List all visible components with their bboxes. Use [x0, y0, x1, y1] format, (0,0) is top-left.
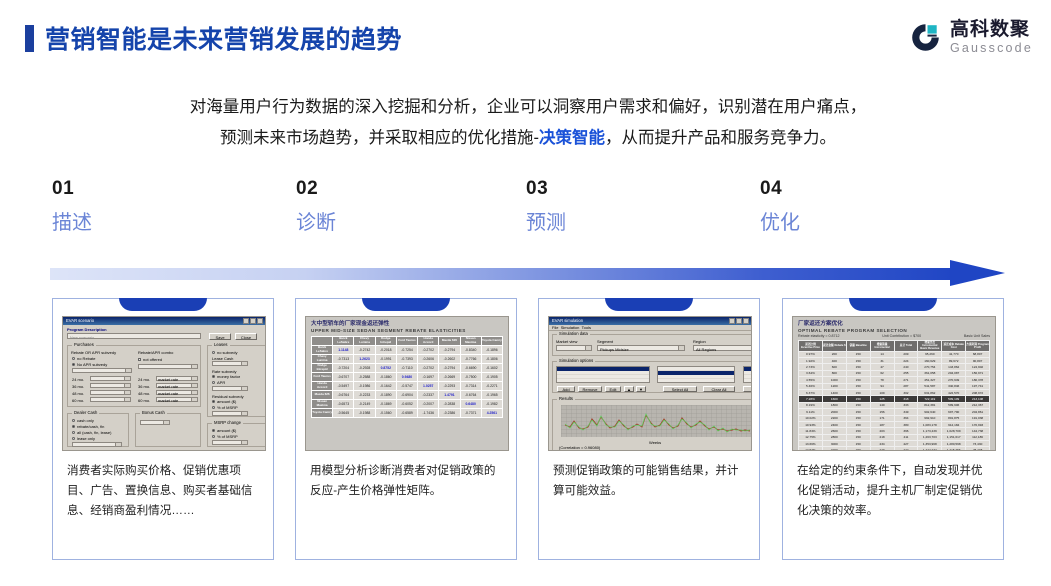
cell: -0.7393 — [396, 355, 417, 364]
graph-button[interactable]: Graph — [743, 386, 752, 392]
column-header: 销量 Baseline — [846, 341, 870, 352]
column-header: Honda Accord — [418, 337, 439, 346]
radio-rebate-cash-fin[interactable] — [72, 425, 75, 428]
label-lease-only: lease only — [77, 436, 95, 441]
cell: -0.6707 — [333, 373, 354, 382]
edit-button[interactable]: Edit — [605, 386, 621, 392]
paragraph-line-2: 预测未来市场趋势，并采取相应的优化措施-决策智能，从而提升产品和服务竞争力。 — [52, 123, 1004, 154]
cell: -0.1890 — [375, 391, 396, 400]
cell: -0.2702 — [418, 364, 439, 373]
label-money-factor: money factor — [217, 374, 240, 379]
window-body: Simulation data Market view Segment Regi… — [549, 331, 751, 450]
paragraph-line-1: 对海量用户行为数据的深入挖掘和分析，企业可以洞察用户需求和偏好，识别潜在用户痛点… — [52, 92, 1004, 123]
menu-item-file[interactable]: File — [552, 325, 558, 330]
cell: -0.6690 — [460, 364, 481, 373]
cell: -0.6764 — [460, 391, 481, 400]
cell: -0.7204 — [333, 364, 354, 373]
cell: 0.9480 — [396, 373, 417, 382]
step-number: 01 — [52, 178, 92, 200]
list-item[interactable] — [658, 379, 734, 383]
label-cash-only: cash only — [77, 418, 94, 423]
cell: -0.1869 — [375, 400, 396, 409]
row-header: Chevy Lumina — [312, 355, 333, 364]
group-label-results: Results — [557, 396, 575, 401]
step-item-1: 01 描述 — [52, 178, 92, 237]
group-label-msrp-change: MSRP change — [212, 420, 243, 425]
table-row: Toyota Camry -0.5645 -0.1988 -0.1560 -0.… — [312, 409, 503, 418]
cell: -0.2702 — [418, 346, 439, 355]
segment-value: Pickups Midsize — [600, 347, 629, 352]
cell: -0.1602 — [481, 364, 502, 373]
select-all-button[interactable]: Select All — [663, 386, 697, 392]
cell: -0.2233 — [354, 391, 375, 400]
dealer-cash-combo[interactable] — [72, 442, 122, 447]
meta-rebate-elasticity: Rebate elasticity = 0.8712 — [798, 334, 839, 339]
group-simulation-data: Simulation data Market view Segment Regi… — [552, 334, 752, 356]
list-item[interactable] — [557, 379, 649, 383]
card-caption: 预测促销政策的可能销售结果，并计算可能效益。 — [553, 461, 747, 501]
paragraph-highlight: 决策智能 — [539, 129, 605, 147]
column-header: 总计 Total — [894, 341, 918, 352]
cell: 1,444,232 — [918, 447, 942, 451]
term-combo-36[interactable] — [90, 383, 131, 388]
term-label-60b: 60 mo. — [138, 398, 150, 403]
window-buttons — [243, 317, 263, 325]
elasticity-matrix: Buick LeSabre Chevy Lumina Dodge Intrepi… — [311, 336, 503, 418]
simulation-line-chart — [561, 405, 752, 437]
cell: -0.7314 — [460, 382, 481, 391]
rate-combo-36[interactable]: market rate — [156, 383, 198, 388]
cell: -0.1991 — [375, 355, 396, 364]
matrix-title-en: UPPER MID-SIZE SEDAN SEGMENT REBATE ELAS… — [311, 328, 503, 334]
term-label-48b: 48 mo. — [138, 391, 150, 396]
group-label-leases: Leases — [212, 342, 230, 347]
row-header: Toyota Camry — [312, 409, 333, 418]
cell: -0.1965 — [481, 391, 502, 400]
label-no-apr-subvedy: No APR subvedy — [77, 362, 107, 367]
group-bonus-cash: Bonus Cash — [135, 413, 201, 447]
card-diagnose[interactable]: 大中型轿车的厂家现金返还弹性 UPPER MID-SIZE SEDAN SEGM… — [295, 298, 517, 560]
rate-combo-48[interactable]: market rate — [156, 390, 198, 395]
table-row: Dodge Intrepid -0.7204 -0.2928 0.8752 -0… — [312, 364, 503, 373]
term-label-36: 36 mo. — [72, 384, 84, 389]
cell: -0.7766 — [460, 355, 481, 364]
cell: -0.2293 — [439, 382, 460, 391]
label-rebate-apr-subv: Rebate OR APR subvedy — [71, 350, 116, 355]
cell: -0.7313 — [333, 355, 354, 364]
cell: -0.1986 — [354, 382, 375, 391]
cell: -0.8340 — [460, 346, 481, 355]
logo-text-cn: 高科数聚 — [950, 20, 1033, 39]
meta-basic-unit-sales: Basic Unit Sales — [964, 334, 990, 339]
meta-unit-contribution: Unit Contribution = $700 — [882, 334, 921, 339]
group-label-dealer-cash: Dealer Cash — [72, 410, 99, 415]
term-label-48: 48 mo. — [72, 391, 84, 396]
cell: -0.2928 — [354, 364, 375, 373]
residual-subvedy-combo[interactable] — [212, 411, 248, 416]
column-header: Ford Taurus — [396, 337, 417, 346]
close-button[interactable]: Close — [235, 333, 257, 340]
rate-value-24: market rate — [158, 377, 178, 382]
cell: -0.2794 — [439, 364, 460, 373]
card-tab — [849, 298, 937, 311]
table-row: Buick LeSabre 1.1148 -0.2742 -0.2018 -0.… — [312, 346, 503, 355]
table-header-row: 返还比例 Incentive Price 返还金额 Rebate $ 销量 Ba… — [799, 341, 990, 352]
cell: -0.2602 — [439, 355, 460, 364]
step-label: 诊断 — [296, 209, 336, 237]
cell: -0.6589 — [396, 409, 417, 418]
label-not-offered: not offered — [143, 357, 162, 362]
cell: -0.6904 — [396, 391, 417, 400]
column-header: 增量销量 Incremental — [870, 341, 894, 352]
cell: -0.2007 — [418, 400, 439, 409]
card-caption: 在给定的约束条件下，自动发现并优化促销活动，提升主机厂制定促销优化决策的效率。 — [797, 461, 991, 521]
cell: -0.2588 — [354, 373, 375, 382]
lease-cash-combo[interactable] — [212, 361, 248, 366]
cell: 1.2623 — [354, 355, 375, 364]
card-optimize[interactable]: 厂家返还方案优化 OPTIMAL REBATE PROGRAM SELECTIO… — [782, 298, 1004, 560]
checkbox-not-offered[interactable] — [138, 358, 141, 361]
label-rebate-apr-combo: Rebate/APR combo — [138, 350, 173, 355]
term-combo-24[interactable] — [90, 376, 131, 381]
card-tab — [362, 298, 450, 311]
column-header: 增量支出 Incremental Basic Revenue — [918, 341, 942, 352]
cell: 0.6480 — [460, 400, 481, 409]
group-label-bonus-cash: Bonus Cash — [140, 410, 167, 415]
group-leases: Leases no subvedy Lease Cash Rate subved… — [207, 345, 266, 417]
purchase-value-combo[interactable] — [72, 368, 132, 373]
cell: -1.7436 — [418, 409, 439, 418]
card-screenshot-matrix-table: 大中型轿车的厂家现金返还弹性 UPPER MID-SIZE SEDAN SEGM… — [305, 316, 509, 451]
region-value: All Regions — [696, 347, 716, 352]
remove-button[interactable]: Remove — [578, 386, 602, 392]
term-combo-48[interactable] — [90, 390, 131, 395]
combo-value[interactable] — [138, 364, 198, 369]
table-header-row: Buick LeSabre Chevy Lumina Dodge Intrepi… — [312, 337, 503, 346]
column-header: Buick LeSabre — [333, 337, 354, 346]
cell: -0.2838 — [439, 400, 460, 409]
page-title: 营销智能是未来营销发展的趋势 — [25, 20, 402, 56]
cell: -0.2271 — [481, 382, 502, 391]
rate-value-36: market rate — [158, 384, 178, 389]
slide-root: 营销智能是未来营销发展的趋势 高科数聚 Gausscode 对海量用户行为数据的… — [0, 0, 1051, 586]
cell: -0.1560 — [375, 409, 396, 418]
label-no-subvedy: no subvedy — [217, 350, 237, 355]
progression-arrow-icon — [50, 262, 1005, 288]
cell: -0.2669 — [439, 373, 460, 382]
matrix-title-cn: 大中型轿车的厂家现金返还弹性 — [311, 321, 503, 328]
step-item-2: 02 诊断 — [296, 178, 336, 237]
group-dealer-cash: Dealer Cash cash only rebate/cash, fin a… — [67, 413, 129, 447]
rate-value-48: market rate — [158, 391, 178, 396]
label-no-rebate: no Rebate — [77, 356, 95, 361]
card-list: EVAR scenario Program Description New sc… — [52, 298, 1004, 560]
column-header: Toyota Camry — [481, 337, 502, 346]
radio-msrp-amount[interactable] — [212, 429, 215, 432]
cell: 1.1148 — [333, 346, 354, 355]
group-purchases: Purchases Rebate OR APR subvedy Rebate/A… — [67, 345, 201, 407]
rate-combo-60[interactable]: market rate — [156, 397, 198, 402]
label-region: Region — [693, 339, 706, 344]
cell: -0.2742 — [354, 346, 375, 355]
move-down-button[interactable]: ▼ — [636, 386, 646, 392]
term-label-24: 24 mo. — [72, 377, 84, 382]
radio-lease-only[interactable] — [72, 437, 75, 440]
cell: -0.6573 — [333, 400, 354, 409]
title-marker — [25, 25, 34, 52]
bonus-cash-combo[interactable] — [140, 420, 170, 425]
menu-item-simulation[interactable]: Simulation — [561, 325, 580, 330]
radio-msrp-pct[interactable] — [212, 435, 215, 438]
radio-no-apr-subvedy[interactable] — [72, 363, 75, 366]
gausscode-logo-icon — [909, 21, 942, 54]
cell: -0.5497 — [333, 382, 354, 391]
program-description-input[interactable]: New scenario — [67, 333, 201, 339]
cell: 1,415,756 — [942, 447, 966, 451]
rate-combo-24[interactable]: market rate — [156, 376, 198, 381]
radio-no-rebate[interactable] — [72, 357, 75, 360]
cell: -0.1896 — [481, 346, 502, 355]
radio-no-subvedy[interactable] — [212, 351, 215, 354]
step-label: 优化 — [760, 209, 800, 237]
radio-cash-only[interactable] — [72, 419, 75, 422]
brand-logo: 高科数聚 Gausscode — [909, 20, 1033, 55]
label-segment: Segment — [597, 339, 613, 344]
label-msrp-amount: amount ($) — [217, 428, 236, 433]
optimal-table-panel: 厂家返还方案优化 OPTIMAL REBATE PROGRAM SELECTIO… — [793, 317, 995, 450]
cell: -0.1982 — [481, 400, 502, 409]
card-caption: 消费者实际购买价格、促销优惠项目、广告、置换信息、购买者基础信息、经销商盈利情况… — [67, 461, 261, 521]
cell: -0.2386 — [439, 409, 460, 418]
cell: -0.1642 — [375, 382, 396, 391]
label-all-cash-fin-lease: all (cash, fin, lease) — [77, 430, 111, 435]
cell: 442 — [894, 447, 918, 451]
term-label-60: 60 mo. — [72, 398, 84, 403]
label-amount: amount ($) — [217, 399, 236, 404]
save-button[interactable]: Save — [209, 333, 231, 340]
cell: -0.1860 — [375, 373, 396, 382]
cell: 249 — [870, 447, 894, 451]
cell: -0.7371 — [460, 409, 481, 418]
step-item-3: 03 预测 — [526, 178, 566, 237]
window-body: Program Description New scenario Save Cl… — [63, 325, 265, 450]
card-tab — [119, 298, 207, 311]
cell: -0.2606 — [418, 355, 439, 364]
column-header: 返还比例 Incentive Price — [799, 341, 823, 352]
term-label-36b: 36 mo. — [138, 384, 150, 389]
cell: 1.0257 — [418, 382, 439, 391]
cell: 0.8752 — [375, 364, 396, 373]
correlation-text: (Correlation = 0.96080) — [559, 445, 600, 450]
cell: 14.57% — [799, 447, 823, 451]
corner-cell — [312, 337, 333, 346]
column-header: Nissan Maxima — [460, 337, 481, 346]
title-text: 营销智能是未来营销发展的趋势 — [45, 20, 402, 56]
group-results: Results — [552, 399, 752, 451]
card-tab — [605, 298, 693, 311]
column-header: Mazda 626 — [439, 337, 460, 346]
optimal-meta-row: Rebate elasticity = 0.8712 Unit Contribu… — [798, 334, 990, 339]
card-screenshot-optimal-table: 厂家返还方案优化 OPTIMAL REBATE PROGRAM SELECTIO… — [792, 316, 996, 451]
radio-all-cash-fin-lease[interactable] — [72, 431, 75, 434]
market-view-combo[interactable] — [556, 345, 592, 351]
list-item[interactable] — [744, 375, 752, 379]
window-titlebar: EVAR scenario — [63, 317, 265, 325]
intro-paragraph: 对海量用户行为数据的深入挖掘和分析，企业可以洞察用户需求和偏好，识别潜在用户痛点… — [52, 92, 1004, 154]
window-titlebar: EVAR simulation — [549, 317, 751, 325]
segment-combo[interactable]: Pickups Midsize — [597, 345, 685, 351]
window-buttons — [729, 317, 749, 325]
label-apr: APR — [217, 380, 225, 385]
cell: -0.5747 — [396, 382, 417, 391]
radio-pct-msrp[interactable] — [212, 406, 215, 409]
term-label-24b: 24 mo. — [138, 377, 150, 382]
term-combo-60[interactable] — [90, 397, 131, 402]
row-header: Buick LeSabre — [312, 346, 333, 355]
scenario-list[interactable] — [556, 366, 650, 383]
radio-amount[interactable] — [212, 400, 215, 403]
logo-text-en: Gausscode — [950, 42, 1033, 55]
row-header: Mazda 626 — [312, 391, 333, 400]
column-header: 返还成本 Rebate Cost — [942, 341, 966, 352]
table-row: Nissan Maxima -0.6573 -0.2149 -0.1869 -0… — [312, 400, 503, 409]
cell: -0.2337 — [418, 391, 439, 400]
label-pct-msrp: % of MSRP — [217, 405, 238, 410]
menu-item-tools[interactable]: Tools — [582, 325, 591, 330]
line-chart-svg — [561, 405, 752, 437]
rate-subvedy-combo[interactable] — [212, 386, 248, 391]
cell: 4.2561 — [481, 409, 502, 418]
table-row: Chevy Lumina -0.7313 1.2623 -0.1991 -0.7… — [312, 355, 503, 364]
group-label-program-description: Program Description — [67, 327, 107, 332]
rate-value-60: market rate — [158, 398, 178, 403]
cell: -0.6052 — [396, 400, 417, 409]
label-msrp-pct: % of MSRP — [217, 434, 238, 439]
cell: -0.5645 — [333, 409, 354, 418]
optimal-title-cn: 厂家返还方案优化 — [798, 321, 990, 328]
window-title-text: EVAR scenario — [66, 317, 94, 325]
table-row: Ford Taurus -0.6707 -0.2588 -0.1860 0.94… — [312, 373, 503, 382]
output-select-list[interactable] — [743, 366, 752, 383]
cell: -0.1806 — [481, 355, 502, 364]
step-label: 描述 — [52, 209, 92, 237]
arrow-head — [950, 260, 1005, 286]
paragraph-line-2-a: 预测未来市场趋势，并采取相应的优化措施- — [220, 129, 539, 147]
matrix-table-panel: 大中型轿车的厂家现金返还弹性 UPPER MID-SIZE SEDAN SEGM… — [306, 317, 508, 450]
column-header: Dodge Intrepid — [375, 337, 396, 346]
table-row: Honda Accord -0.5497 -0.1986 -0.1642 -0.… — [312, 382, 503, 391]
table-row: Mazda 626 -0.6764 -0.2233 -0.1890 -0.690… — [312, 391, 503, 400]
step-item-4: 04 优化 — [760, 178, 800, 237]
column-header: Chevy Lumina — [354, 337, 375, 346]
table-row: 14.57%32001502494421,444,2321,415,75628,… — [799, 447, 990, 451]
optimal-rebate-table: 返还比例 Incentive Price 返还金额 Rebate $ 销量 Ba… — [798, 340, 990, 451]
window-title-text: EVAR simulation — [552, 317, 583, 325]
cell: 150 — [846, 447, 870, 451]
card-describe[interactable]: EVAR scenario Program Description New sc… — [52, 298, 274, 560]
region-combo[interactable]: All Regions — [693, 345, 752, 351]
row-header: Dodge Intrepid — [312, 364, 333, 373]
row-header: Nissan Maxima — [312, 400, 333, 409]
cell: -0.6764 — [333, 391, 354, 400]
cell: -0.1697 — [418, 373, 439, 382]
move-up-button[interactable]: ▲ — [624, 386, 634, 392]
card-screenshot-windows-form: EVAR scenario Program Description New sc… — [62, 316, 266, 451]
model-select-list[interactable] — [657, 366, 735, 383]
radio-money-factor[interactable] — [212, 375, 215, 378]
row-header: Ford Taurus — [312, 373, 333, 382]
cell: -0.7110 — [396, 364, 417, 373]
step-number: 03 — [526, 178, 566, 200]
cell: 28,438 — [966, 447, 990, 451]
cell: 3200 — [822, 447, 846, 451]
group-label-purchases: Purchases — [72, 342, 96, 347]
card-screenshot-windows-chart: EVAR simulation File Simulation Tools Si… — [548, 316, 752, 451]
cell: -0.1905 — [481, 373, 502, 382]
column-header: 方案利润 Program Profit — [966, 341, 990, 352]
cell: -0.1988 — [354, 409, 375, 418]
group-label-simulation-options: Simulation options — [557, 358, 595, 363]
cell: -0.7500 — [460, 373, 481, 382]
card-predict[interactable]: EVAR simulation File Simulation Tools Si… — [538, 298, 760, 560]
step-number: 02 — [296, 178, 336, 200]
card-caption: 用模型分析诊断消费者对促销政策的反应-产生价格弹性矩阵。 — [310, 461, 504, 501]
step-list: 01 描述 02 诊断 03 预测 04 优化 — [52, 178, 1004, 248]
radio-apr[interactable] — [212, 381, 215, 384]
msrp-change-combo[interactable] — [212, 440, 248, 445]
cell: -0.2018 — [375, 346, 396, 355]
group-label-simulation-data: Simulation data — [557, 331, 590, 336]
arrow-shaft — [50, 268, 960, 280]
group-simulation-options: Simulation options — [552, 361, 752, 393]
clear-all-button[interactable]: Clear All — [703, 386, 735, 392]
column-header: 返还金额 Rebate $ — [822, 341, 846, 352]
group-msrp-change: MSRP change amount ($) % of MSRP — [207, 423, 266, 447]
cell: -0.2794 — [439, 346, 460, 355]
label-market-view: Market view — [556, 339, 577, 344]
label-rebate-cash-fin: rebate/cash, fin — [77, 424, 104, 429]
step-number: 04 — [760, 178, 800, 200]
row-header: Honda Accord — [312, 382, 333, 391]
add-button[interactable]: Add — [557, 386, 575, 392]
program-description-placeholder: New scenario — [70, 335, 94, 340]
cell: -0.7254 — [396, 346, 417, 355]
cell: 1.4791 — [439, 391, 460, 400]
cell: -0.2149 — [354, 400, 375, 409]
chart-xlabel: Weeks — [649, 440, 661, 445]
step-label: 预测 — [526, 209, 566, 237]
paragraph-line-2-b: ，从而提升产品和服务竞争力。 — [605, 129, 836, 147]
